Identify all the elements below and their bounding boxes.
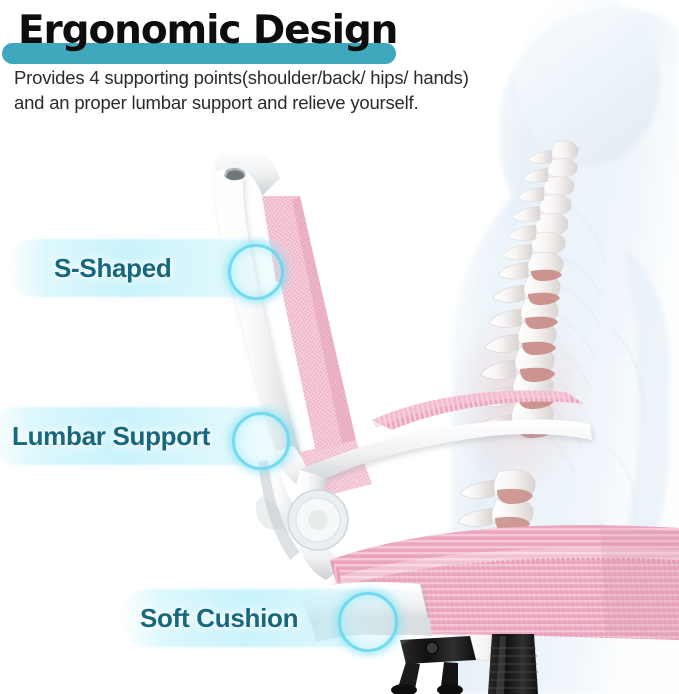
- callout-label: S-Shaped: [54, 251, 172, 285]
- caster: [437, 684, 463, 694]
- page-title: Ergonomic Design: [18, 9, 397, 53]
- tilt-knob: [426, 642, 438, 654]
- callout-s-shaped: S-Shaped: [6, 239, 298, 297]
- highlight-ring-icon: [232, 412, 290, 470]
- page-subtitle: Provides 4 supporting points(shoulder/ba…: [14, 66, 469, 115]
- callout-label: Soft Cushion: [140, 601, 298, 635]
- backrest: [215, 148, 372, 534]
- product-infographic: Ergonomic Design Provides 4 supporting p…: [0, 0, 679, 694]
- callout-lumbar-support: Lumbar Support: [0, 407, 308, 465]
- callout-label: Lumbar Support: [12, 419, 210, 453]
- highlight-ring-icon: [228, 244, 284, 300]
- callout-soft-cushion: Soft Cushion: [120, 589, 420, 647]
- highlight-ring-icon: [338, 592, 398, 652]
- header: Ergonomic Design Provides 4 supporting p…: [0, 0, 679, 130]
